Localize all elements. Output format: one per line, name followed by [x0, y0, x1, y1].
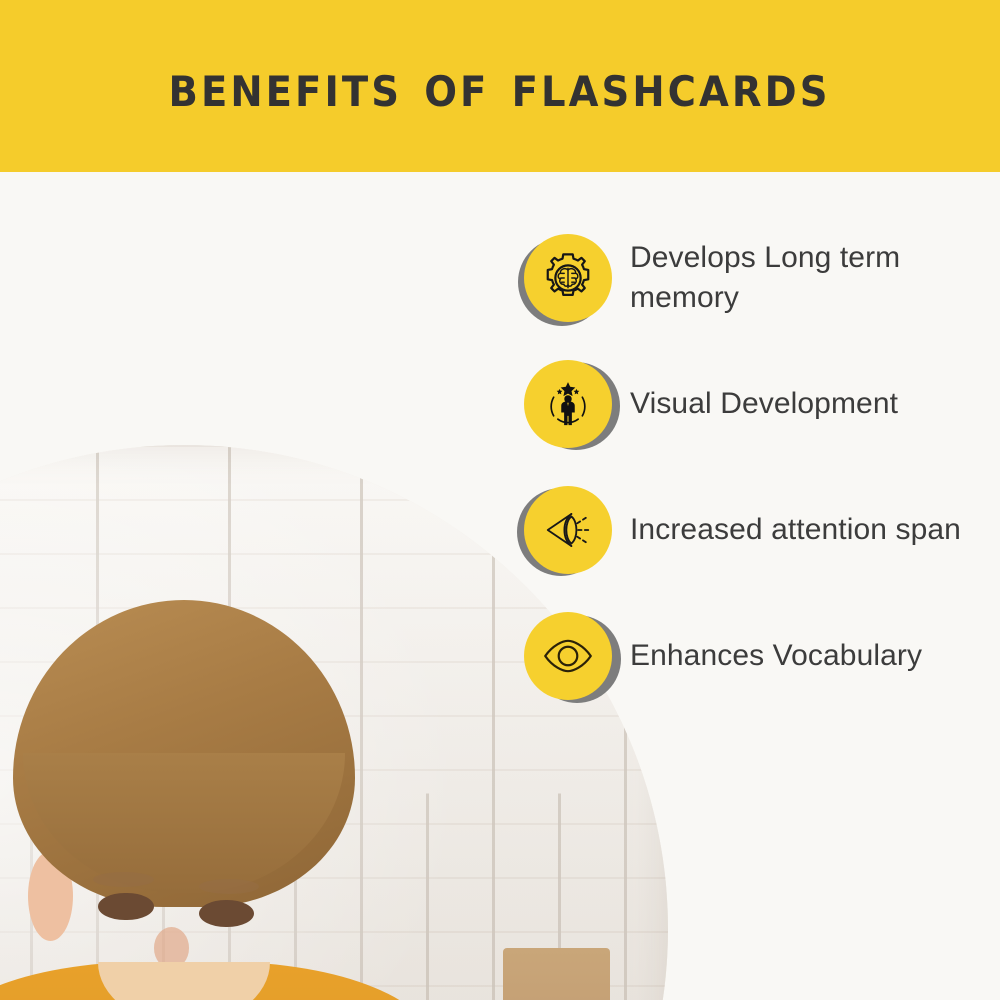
badge-disc-3 — [524, 486, 612, 574]
person-stars-icon — [541, 377, 595, 431]
benefits-list: Develops Long term memory — [524, 230, 1000, 734]
boy-eyebrow-right — [199, 879, 259, 894]
benefit-item-2[interactable]: Visual Development — [524, 356, 1000, 452]
benefit-icon-badge-3 — [524, 486, 612, 574]
benefit-item-3[interactable]: Increased attention span — [524, 482, 1000, 578]
badge-disc-1 — [524, 234, 612, 322]
eye-icon — [541, 629, 595, 683]
benefit-item-4[interactable]: Enhances Vocabulary — [524, 608, 1000, 704]
benefit-icon-badge-1 — [524, 234, 612, 322]
benefit-label-2: Visual Development — [630, 384, 898, 424]
boy-figure — [0, 600, 436, 1000]
benefit-label-4: Enhances Vocabulary — [630, 636, 922, 676]
benefit-label-3: Increased attention span — [630, 510, 961, 550]
boy-collar — [98, 962, 269, 1000]
boy-eye-right — [199, 900, 254, 928]
benefit-item-1[interactable]: Develops Long term memory — [524, 230, 1000, 326]
boy-eyebrow-left — [93, 872, 153, 887]
header-banner: Benefits of Flashcards — [0, 0, 1000, 172]
benefit-label-1: Develops Long term memory — [630, 238, 1000, 318]
eye-rays-icon — [541, 503, 595, 557]
badge-disc-4 — [524, 612, 612, 700]
benefit-icon-badge-2 — [524, 360, 612, 448]
benefit-icon-badge-4 — [524, 612, 612, 700]
infographic-poster: Benefits of Flashcards — [0, 0, 1000, 1000]
boy-eye-left — [98, 893, 153, 921]
gear-brain-icon — [541, 251, 595, 305]
chair-right — [503, 948, 609, 1000]
badge-disc-2 — [524, 360, 612, 448]
page-title: Benefits of Flashcards — [169, 51, 831, 121]
